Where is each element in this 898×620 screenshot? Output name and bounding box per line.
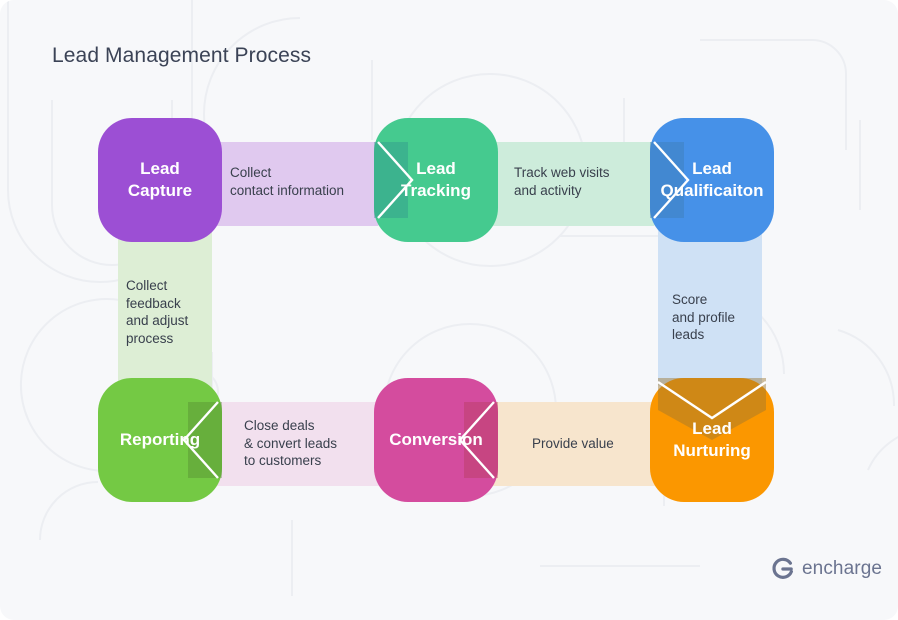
node-lead-capture[interactable]: Lead Capture xyxy=(98,118,222,242)
encharge-circle-arrow-icon xyxy=(770,556,796,582)
brand-name: encharge xyxy=(802,558,882,580)
brand-logo: encharge xyxy=(770,556,882,582)
diagram-canvas: Lead Management Process Collect contact … xyxy=(0,0,898,620)
node-lead-qualificaiton[interactable]: Lead Qualificaiton xyxy=(650,118,774,242)
node-label: Reporting xyxy=(120,429,200,451)
node-lead-nurturing[interactable]: Lead Nurturing xyxy=(650,378,774,502)
node-label: Conversion xyxy=(389,429,483,451)
process-flow-diagram: Collect contact information Track web vi… xyxy=(0,0,898,620)
node-reporting[interactable]: Reporting xyxy=(98,378,222,502)
node-label: Lead Qualificaiton xyxy=(661,158,764,202)
connector-label: Score and profile leads xyxy=(672,291,768,344)
node-label: Lead Tracking xyxy=(401,158,471,202)
node-conversion[interactable]: Conversion xyxy=(374,378,498,502)
node-label: Lead Capture xyxy=(128,158,192,202)
node-label: Lead Nurturing xyxy=(673,418,750,462)
connector-label: Collect feedback and adjust process xyxy=(126,277,218,347)
node-lead-tracking[interactable]: Lead Tracking xyxy=(374,118,498,242)
